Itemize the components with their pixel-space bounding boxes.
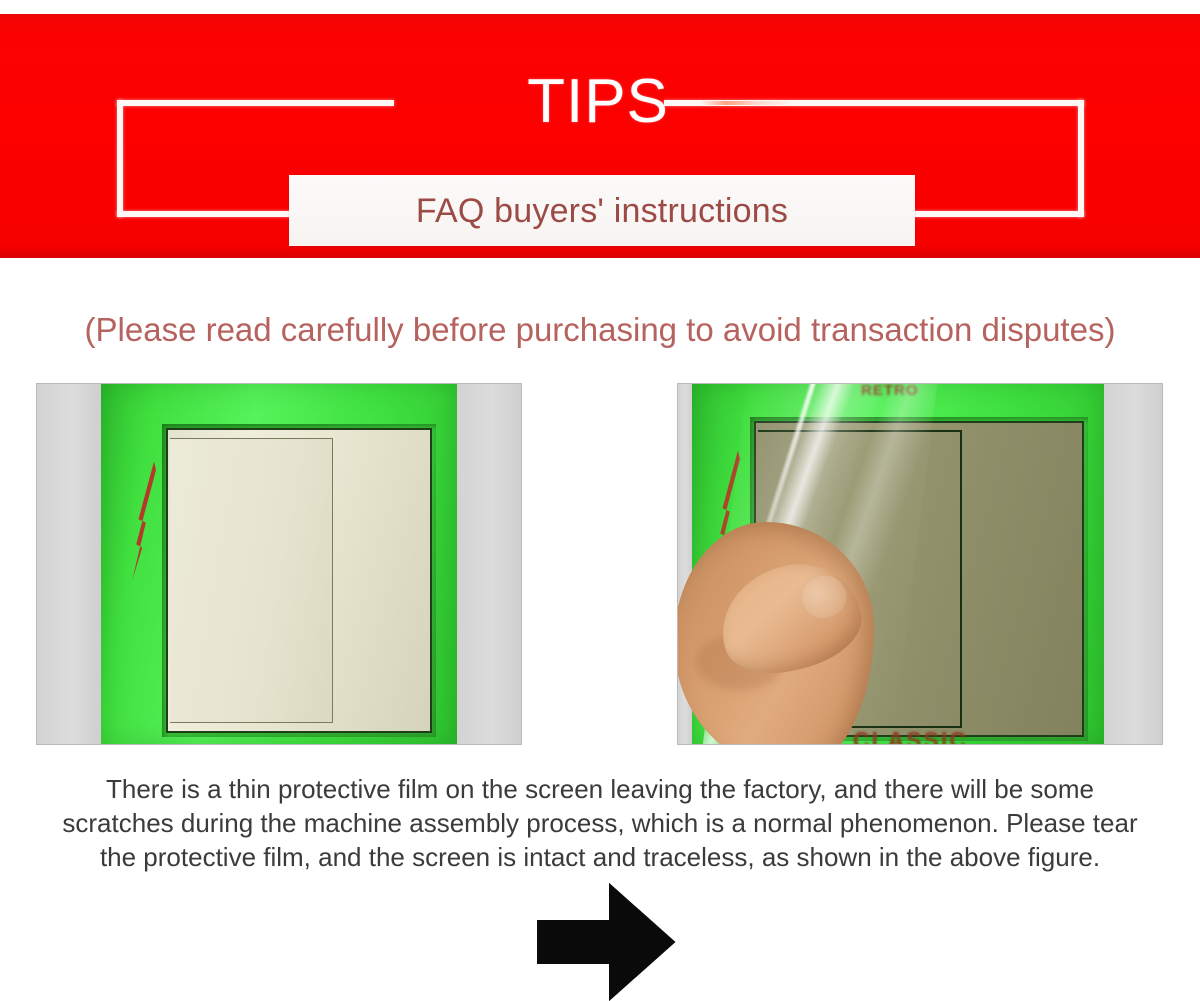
figure-after-photo: RETRO CLASSIC [677, 383, 1163, 745]
banner-frame-bottom-right [905, 211, 1084, 217]
caption-line-2: scratches during the machine assembly pr… [28, 806, 1172, 840]
figure-before-photo [36, 383, 522, 745]
faq-tips-page: { "banner": { "title": "TIPS", "subtitle… [0, 0, 1200, 946]
banner-subtitle: FAQ buyers' instructions [416, 191, 788, 231]
game-console-body [101, 383, 457, 745]
photo-right-grey-band [457, 384, 521, 744]
caption-line-1: There is a thin protective film on the s… [28, 772, 1172, 806]
photo-right-grey-band [1104, 384, 1162, 744]
banner-title: TIPS [0, 67, 1198, 137]
figure-comparison: RETRO CLASSIC [0, 383, 1200, 747]
photo-left-grey-band [37, 384, 101, 744]
thumbnail [795, 568, 854, 626]
purchase-notice: (Please read carefully before purchasing… [0, 306, 1200, 354]
banner-frame-bottom-left [117, 211, 299, 217]
banner-subtitle-box: FAQ buyers' instructions [289, 175, 915, 246]
screen-with-protective-film [166, 428, 432, 733]
console-brand-top-label: RETRO [807, 383, 972, 404]
screen-bezel [162, 424, 436, 737]
tips-banner: TIPS FAQ buyers' instructions [0, 14, 1200, 258]
figure-caption: There is a thin protective film on the s… [28, 772, 1172, 874]
caption-line-3: the protective film, and the screen is i… [28, 840, 1172, 874]
lightning-bolt-icon [128, 460, 164, 601]
arrow-right-icon [536, 883, 676, 1001]
hand-peeling-film [677, 522, 874, 745]
